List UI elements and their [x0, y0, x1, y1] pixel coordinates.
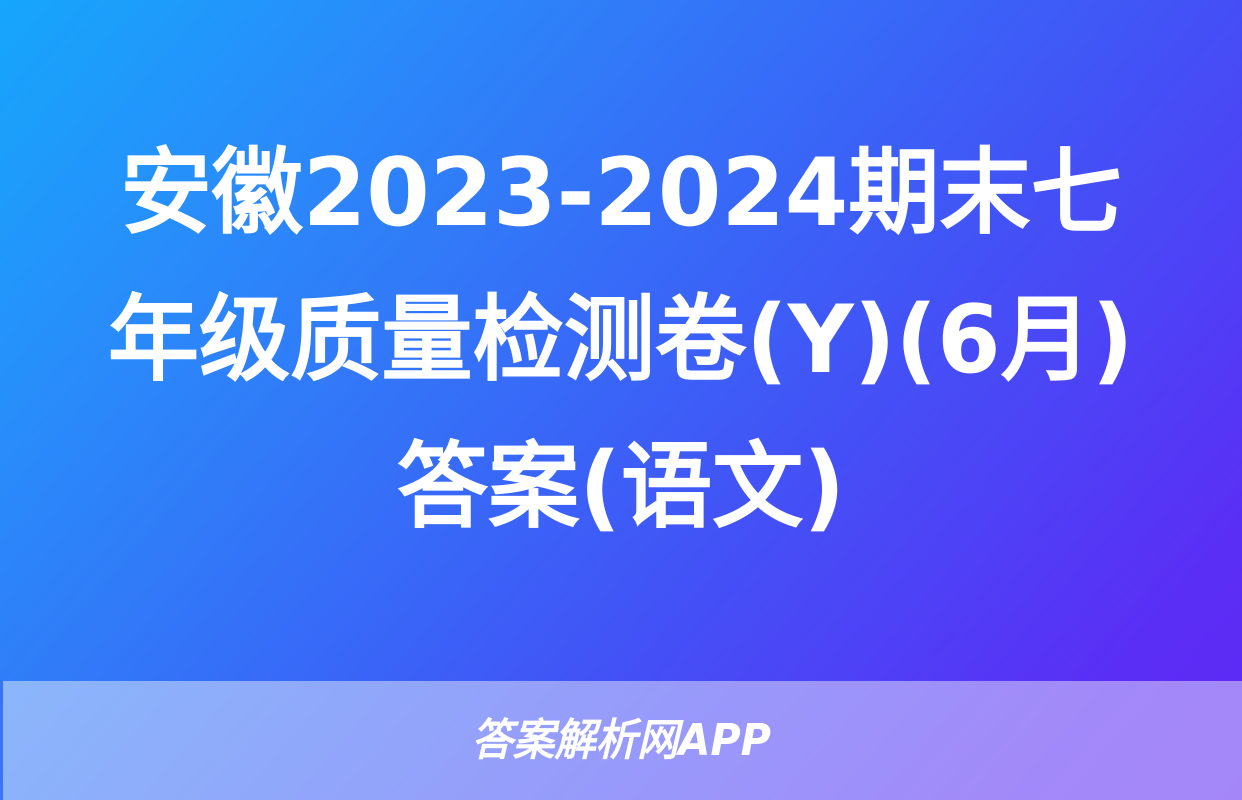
poster-container: 安徽2023-2024期末七 年级质量检测卷(Y)(6月) 答案(语文) 答案解… — [0, 0, 1242, 800]
page-title: 安徽2023-2024期末七 年级质量检测卷(Y)(6月) 答案(语文) — [0, 0, 1242, 681]
banner-left-edge-strip — [0, 681, 3, 800]
title-line-2: 年级质量检测卷(Y)(6月) — [108, 267, 1134, 414]
app-promo-label: 答案解析网APP — [471, 715, 770, 767]
title-line-1: 安徽2023-2024期末七 — [120, 120, 1121, 267]
app-promo-banner: 答案解析网APP — [0, 681, 1242, 800]
title-line-3: 答案(语文) — [397, 414, 845, 561]
